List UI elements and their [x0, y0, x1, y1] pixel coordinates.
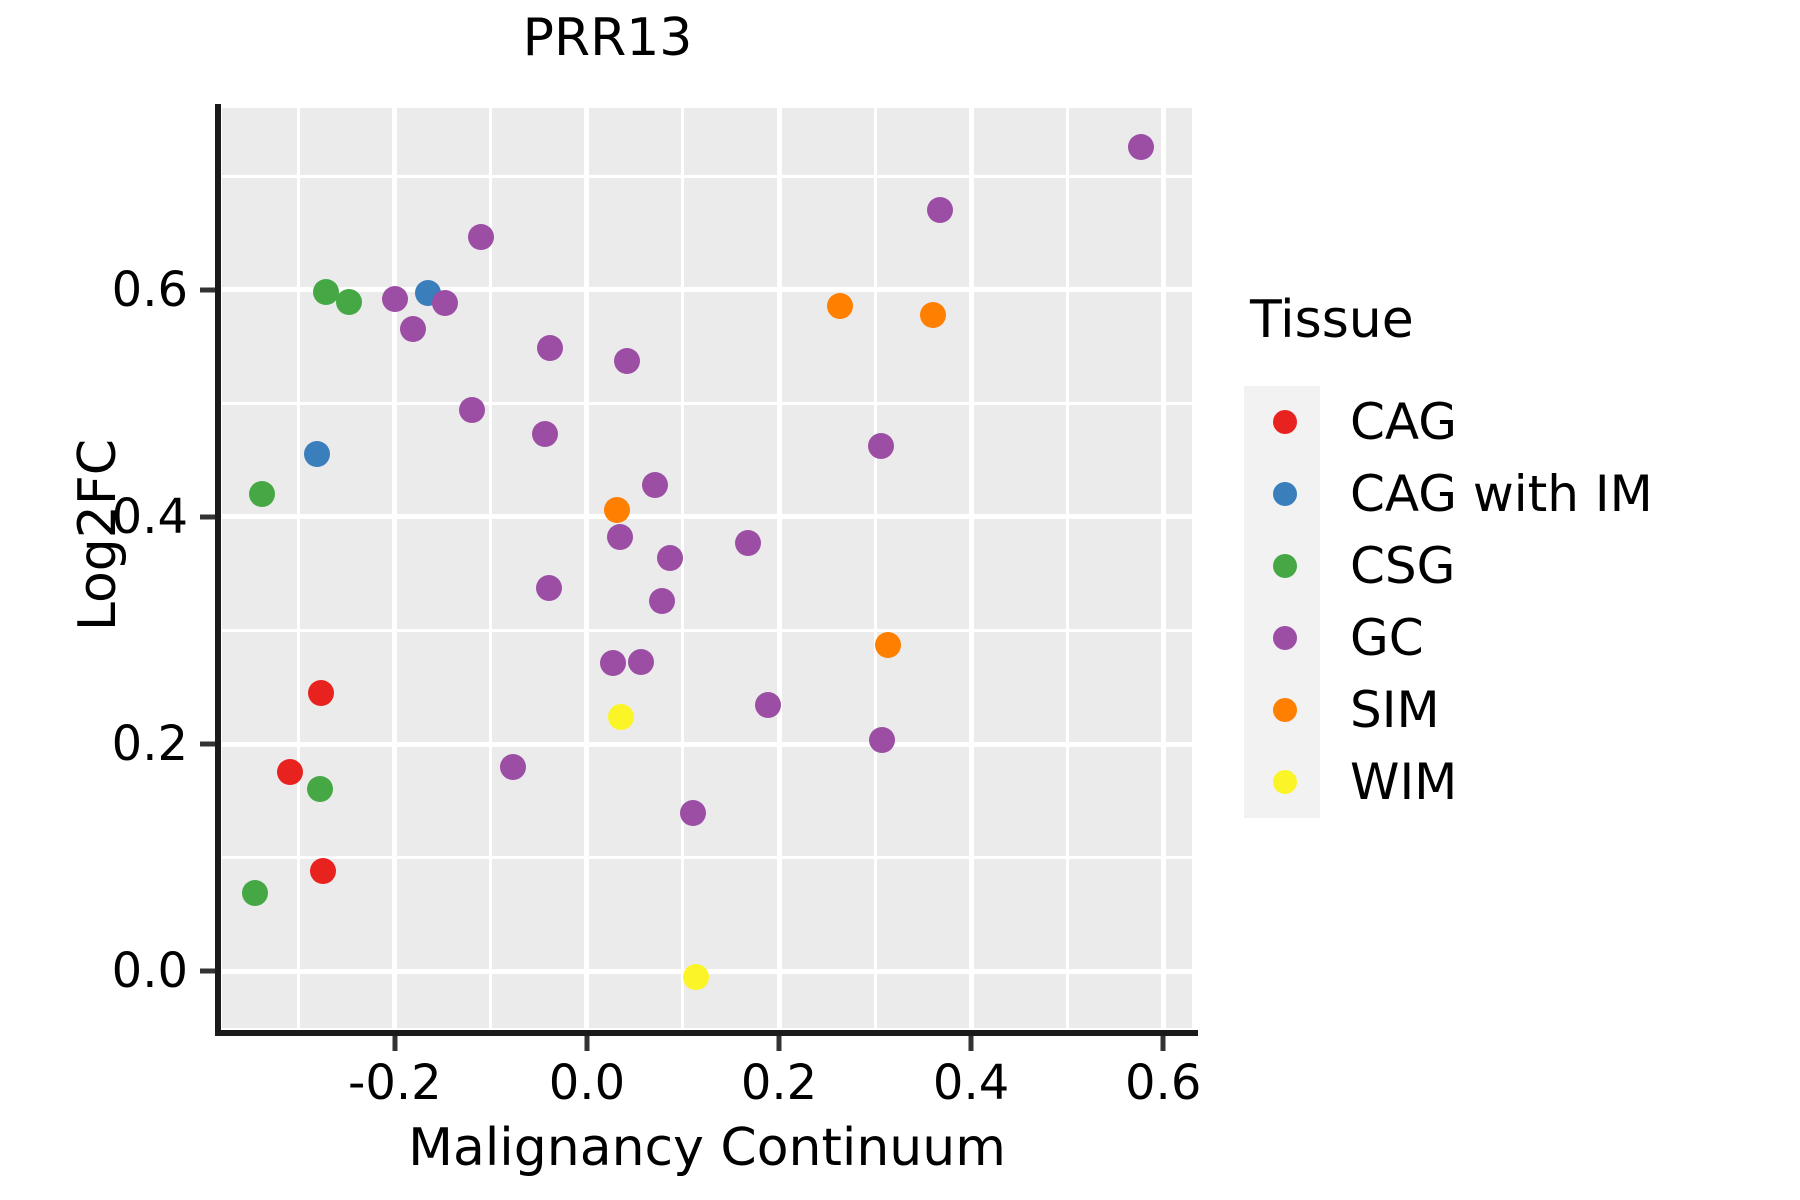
legend-key — [1250, 602, 1320, 674]
y-tick-mark — [200, 514, 215, 519]
x-tick-mark — [584, 1036, 589, 1051]
x-tick-mark — [969, 1036, 974, 1051]
y-tick-mark — [200, 287, 215, 292]
plot-panel — [222, 108, 1192, 1028]
gridline-minor-vertical — [297, 108, 300, 1028]
legend-dot-icon — [1273, 626, 1297, 650]
y-tick-mark — [200, 969, 215, 974]
data-point — [735, 530, 761, 556]
gridline-minor-vertical — [874, 108, 877, 1028]
data-point — [869, 727, 895, 753]
legend-label: SIM — [1350, 681, 1440, 739]
legend-key — [1250, 530, 1320, 602]
gridline-minor-vertical — [1066, 108, 1069, 1028]
data-point — [382, 286, 408, 312]
x-tick-label: 0.0 — [549, 1055, 625, 1111]
data-point — [649, 588, 675, 614]
legend-key — [1250, 674, 1320, 746]
legend-entry-cag[interactable]: CAG — [1250, 386, 1780, 458]
scatter-plot-figure: PRR13 0.00.20.40.6 -0.20.00.20.40.6 Mali… — [0, 0, 1800, 1200]
legend-dot-icon — [1273, 554, 1297, 578]
gridline-minor-horizontal — [222, 856, 1192, 859]
data-point — [277, 759, 303, 785]
data-point — [628, 649, 654, 675]
data-point — [642, 472, 668, 498]
data-point — [920, 302, 946, 328]
data-point — [875, 632, 901, 658]
x-tick-label: 0.6 — [1125, 1055, 1201, 1111]
legend-entry-wim[interactable]: WIM — [1250, 746, 1780, 818]
data-point — [755, 692, 781, 718]
x-tick-label: 0.4 — [933, 1055, 1009, 1111]
legend: Tissue CAGCAG with IMCSGGCSIMWIM — [1250, 290, 1780, 818]
gridline-minor-horizontal — [222, 629, 1192, 632]
data-point — [927, 197, 953, 223]
data-point — [680, 800, 706, 826]
data-point — [500, 754, 526, 780]
legend-dot-icon — [1273, 482, 1297, 506]
data-point — [608, 704, 634, 730]
data-point — [459, 397, 485, 423]
legend-entries: CAGCAG with IMCSGGCSIMWIM — [1250, 386, 1780, 818]
data-point — [432, 290, 458, 316]
data-point — [827, 293, 853, 319]
legend-entry-sim[interactable]: SIM — [1250, 674, 1780, 746]
y-axis-title: Log2FC — [68, 185, 128, 885]
data-point — [336, 289, 362, 315]
data-point — [400, 316, 426, 342]
legend-key — [1250, 386, 1320, 458]
legend-dot-icon — [1273, 770, 1297, 794]
data-point — [536, 575, 562, 601]
x-tick-label: 0.2 — [741, 1055, 817, 1111]
data-point — [468, 224, 494, 250]
legend-dot-icon — [1273, 698, 1297, 722]
data-point — [307, 776, 333, 802]
legend-title: Tissue — [1250, 290, 1780, 350]
data-point — [683, 964, 709, 990]
data-point — [614, 348, 640, 374]
data-point — [600, 650, 626, 676]
gridline-major-vertical — [584, 108, 589, 1028]
legend-label: WIM — [1350, 753, 1457, 811]
x-axis-title: Malignancy Continuum — [222, 1118, 1192, 1178]
data-point — [604, 497, 630, 523]
legend-label: CAG — [1350, 393, 1457, 451]
legend-key — [1250, 746, 1320, 818]
gridline-major-vertical — [392, 108, 397, 1028]
gridline-major-horizontal — [222, 287, 1192, 292]
x-tick-label: -0.2 — [348, 1055, 442, 1111]
page-title: PRR13 — [0, 10, 1215, 67]
gridline-major-vertical — [1161, 108, 1166, 1028]
data-point — [242, 880, 268, 906]
gridline-minor-vertical — [681, 108, 684, 1028]
data-point — [310, 858, 336, 884]
legend-label: GC — [1350, 609, 1424, 667]
gridline-major-vertical — [969, 108, 974, 1028]
gridline-major-horizontal — [222, 514, 1192, 519]
x-tick-mark — [1161, 1036, 1166, 1051]
data-point — [537, 335, 563, 361]
legend-entry-csg[interactable]: CSG — [1250, 530, 1780, 602]
data-point — [304, 441, 330, 467]
data-point — [657, 545, 683, 571]
gridline-major-horizontal — [222, 742, 1192, 747]
x-tick-mark — [392, 1036, 397, 1051]
legend-entry-cag-with-im[interactable]: CAG with IM — [1250, 458, 1780, 530]
legend-label: CAG with IM — [1350, 465, 1653, 523]
data-point — [308, 680, 334, 706]
y-axis-line — [215, 104, 221, 1036]
data-point — [249, 481, 275, 507]
data-point — [1128, 134, 1154, 160]
gridline-major-vertical — [777, 108, 782, 1028]
legend-dot-icon — [1273, 410, 1297, 434]
y-tick-mark — [200, 742, 215, 747]
data-point — [532, 421, 558, 447]
x-axis-line — [215, 1030, 1198, 1036]
legend-key — [1250, 458, 1320, 530]
legend-entry-gc[interactable]: GC — [1250, 602, 1780, 674]
data-point — [868, 433, 894, 459]
gridline-minor-horizontal — [222, 175, 1192, 178]
data-point — [607, 524, 633, 550]
gridline-minor-horizontal — [222, 402, 1192, 405]
legend-label: CSG — [1350, 537, 1455, 595]
x-tick-mark — [777, 1036, 782, 1051]
y-tick-label: 0.0 — [112, 943, 188, 999]
